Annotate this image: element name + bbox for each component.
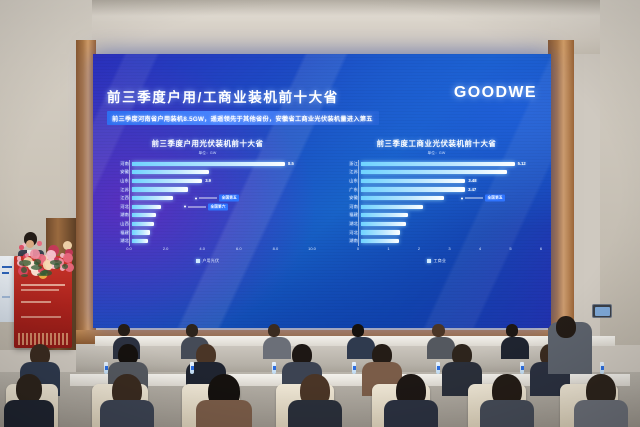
bar-track	[132, 185, 312, 194]
bar-category-label: 山东	[332, 178, 361, 184]
bar-track: 3.47	[361, 185, 541, 194]
bar-category-label: 山西	[103, 221, 132, 227]
bar-rows-right: 浙江5.12江苏山东3.48广东3.47安徽河南福建湖北河北湖南全国第五	[358, 160, 541, 246]
bar	[361, 187, 465, 191]
chart-commercial-pv: 前三季度工商业光伏装机前十大省 单位：GW 浙江5.12江苏山东3.48广东3.…	[322, 138, 551, 264]
bar-rows-left: 河南8.5安徽山东3.9江苏江西河北湖南山西福建湖北全国第五全国第六	[129, 160, 312, 246]
x-axis-tick: 10.0	[308, 246, 316, 251]
legend-label-left: 户用光伏	[202, 258, 219, 264]
x-axis-tick: 8.0	[273, 246, 279, 251]
bar-track	[132, 211, 312, 220]
audience-head	[268, 324, 280, 337]
bar-track	[132, 220, 312, 229]
bar-category-label: 湖南	[332, 238, 361, 244]
audience-head	[118, 324, 130, 336]
bar-category-label: 福建	[332, 212, 361, 218]
bar	[361, 230, 400, 234]
x-axis-tick: 6.0	[236, 246, 242, 251]
bar	[361, 179, 465, 183]
audience-head	[556, 316, 576, 338]
water-bottle	[600, 362, 604, 374]
bar-category-label: 河北	[332, 230, 361, 236]
bar-track	[361, 211, 541, 220]
bar-track	[361, 220, 541, 229]
plot-area-right: 浙江5.12江苏山东3.48广东3.47安徽河南福建湖北河北湖南全国第五 012…	[332, 160, 541, 256]
bar	[361, 239, 399, 243]
audience-torso	[480, 400, 534, 427]
bar	[132, 239, 148, 243]
bar-track	[132, 168, 312, 177]
bar-value-label: 3.9	[205, 178, 211, 183]
flower	[37, 241, 42, 246]
bar-track: 3.48	[361, 177, 541, 186]
audience-head	[506, 324, 518, 337]
legend-swatch-icon	[196, 259, 200, 263]
slide-headline: 前三季度户用/工商业装机前十大省 前三季度河南省户用装机8.5GW，遥遥领先于其…	[107, 86, 437, 126]
bar-category-label: 湖北	[332, 221, 361, 227]
slide-subtitle: 前三季度河南省户用装机8.5GW，遥遥领先于其他省份，安徽省工商业光伏装机量进入…	[107, 111, 379, 125]
bar-row: 山西	[129, 220, 312, 229]
slide-title: 前三季度户用/工商业装机前十大省	[107, 86, 437, 106]
podium-flower-arrangement	[16, 240, 72, 276]
x-axis-right: 0123456	[358, 246, 541, 256]
bar-category-label: 湖北	[103, 238, 132, 244]
water-bottle	[272, 362, 276, 374]
bar-category-label: 广东	[332, 187, 361, 193]
flower	[63, 253, 73, 263]
charts-container: 前三季度户用光伏装机前十大省 单位：GW 河南8.5安徽山东3.9江苏江西河北湖…	[93, 138, 551, 264]
bar-row: 湖北	[358, 220, 541, 229]
bar-track	[132, 237, 312, 246]
x-axis-tick: 2	[418, 246, 420, 251]
bar-category-label: 江苏	[103, 187, 132, 193]
bar-row: 河南	[358, 202, 541, 211]
x-axis-tick: 0.0	[126, 246, 132, 251]
bar-row: 安徽	[129, 168, 312, 177]
bar-value-label: 3.48	[468, 178, 476, 183]
audience-torso	[263, 337, 291, 359]
bar-track	[132, 194, 312, 203]
chart-residential-pv: 前三季度户用光伏装机前十大省 单位：GW 河南8.5安徽山东3.9江苏江西河北湖…	[93, 138, 322, 264]
x-axis-tick: 4	[479, 246, 481, 251]
chart-unit-right: 单位：GW	[332, 151, 541, 156]
water-bottle	[352, 362, 356, 374]
bar-track: 8.5	[132, 160, 312, 169]
foliage	[34, 259, 42, 265]
legend-left: 户用光伏	[103, 258, 312, 264]
bar-category-label: 浙江	[332, 161, 361, 167]
x-axis-left: 0.02.04.06.08.010.0	[129, 246, 312, 256]
bar	[132, 213, 156, 217]
bar-category-label: 河北	[103, 204, 132, 210]
audience-torso	[384, 400, 438, 427]
bar	[361, 205, 423, 209]
conference-hall-photo: 前三季度户用/工商业装机前十大省 前三季度河南省户用装机8.5GW，遥遥领先于其…	[0, 0, 640, 427]
bar-row: 福建	[358, 211, 541, 220]
bar-value-label: 3.47	[468, 187, 476, 192]
bar-value-label: 8.5	[288, 161, 294, 166]
hall-wall-right	[600, 0, 640, 345]
legend-right: 工商业	[332, 258, 541, 264]
bar-track: 5.12	[361, 160, 541, 169]
bar-row: 湖北	[129, 237, 312, 246]
foliage	[21, 274, 28, 277]
bar	[132, 222, 154, 226]
bar-row: 江苏	[358, 168, 541, 177]
legend-swatch-icon	[427, 259, 431, 263]
bar-category-label: 江苏	[332, 169, 361, 175]
bar-category-label: 江西	[103, 195, 132, 201]
water-bottle	[104, 362, 108, 374]
bar-category-label: 安徽	[103, 169, 132, 175]
bar-category-label: 山东	[103, 178, 132, 184]
audience-torso	[501, 337, 529, 359]
bar	[132, 205, 161, 209]
bar-track	[361, 194, 541, 203]
bar	[132, 162, 285, 166]
bar	[361, 196, 444, 200]
bar	[361, 213, 408, 217]
audience-torso	[574, 400, 628, 427]
bar-track	[361, 237, 541, 246]
audience-torso	[196, 400, 252, 427]
bar-row: 山东3.48	[358, 177, 541, 186]
bar-row: 江西	[129, 194, 312, 203]
bar-row: 山东3.9	[129, 177, 312, 186]
foliage	[19, 260, 31, 265]
bar-value-label: 5.12	[518, 161, 526, 166]
bar-row: 湖南	[358, 237, 541, 246]
audience-head	[352, 324, 364, 337]
audience-torso	[4, 400, 54, 427]
chart-unit-left: 单位：GW	[103, 151, 312, 156]
bar-track: 3.9	[132, 177, 312, 186]
bar-row: 河北	[358, 228, 541, 237]
audience-area	[0, 300, 640, 427]
presentation-screen: 前三季度户用/工商业装机前十大省 前三季度河南省户用装机8.5GW，遥遥领先于其…	[93, 54, 551, 328]
bar-row: 安徽	[358, 194, 541, 203]
bar-row: 广东3.47	[358, 185, 541, 194]
x-axis-tick: 6	[540, 246, 542, 251]
bar-row: 湖南	[129, 211, 312, 220]
x-axis-tick: 1	[387, 246, 389, 251]
foliage	[54, 263, 59, 268]
camera-phone[interactable]	[592, 304, 612, 318]
chart-title-left: 前三季度户用光伏装机前十大省	[103, 138, 312, 149]
bar	[361, 162, 515, 166]
chart-title-right: 前三季度工商业光伏装机前十大省	[332, 138, 541, 149]
bar-category-label: 湖南	[103, 212, 132, 218]
audience-head	[432, 324, 445, 337]
foliage	[42, 270, 48, 274]
x-axis-tick: 5	[509, 246, 511, 251]
bar-track	[361, 228, 541, 237]
bar	[132, 179, 202, 183]
x-axis-tick: 4.0	[199, 246, 205, 251]
bar-category-label: 安徽	[332, 195, 361, 201]
flower	[19, 245, 23, 249]
ceiling-shadow	[0, 0, 640, 16]
bar-track	[132, 228, 312, 237]
foliage	[21, 267, 27, 273]
bar-track	[361, 202, 541, 211]
bar-row: 河北	[129, 202, 312, 211]
bar-row: 河南8.5	[129, 160, 312, 169]
plot-area-left: 河南8.5安徽山东3.9江苏江西河北湖南山西福建湖北全国第五全国第六 0.02.…	[103, 160, 312, 256]
flower	[30, 249, 40, 259]
foliage	[62, 264, 69, 269]
legend-label-right: 工商业	[433, 258, 446, 264]
audience-torso	[288, 400, 342, 427]
bar-row: 福建	[129, 228, 312, 237]
x-axis-tick: 2.0	[163, 246, 169, 251]
bar-row: 江苏	[129, 185, 312, 194]
bar	[132, 187, 188, 191]
water-bottle	[190, 362, 194, 374]
audience-torso	[100, 400, 154, 427]
bar	[132, 170, 209, 174]
bar	[132, 196, 173, 200]
bar-row: 浙江5.12	[358, 160, 541, 169]
bar-category-label: 河南	[332, 204, 361, 210]
x-axis-tick: 0	[357, 246, 359, 251]
x-axis-tick: 3	[448, 246, 450, 251]
bar	[361, 222, 406, 226]
bar-track	[361, 168, 541, 177]
audience-torso	[347, 337, 375, 359]
water-bottle	[520, 362, 524, 374]
bar	[132, 230, 150, 234]
bar-category-label: 福建	[103, 230, 132, 236]
goodwe-logo: GOODWE	[454, 84, 537, 102]
bar-category-label: 河南	[103, 161, 132, 167]
audience-head	[186, 324, 198, 337]
water-bottle	[436, 362, 440, 374]
bar	[361, 170, 507, 174]
bar-track	[132, 202, 312, 211]
